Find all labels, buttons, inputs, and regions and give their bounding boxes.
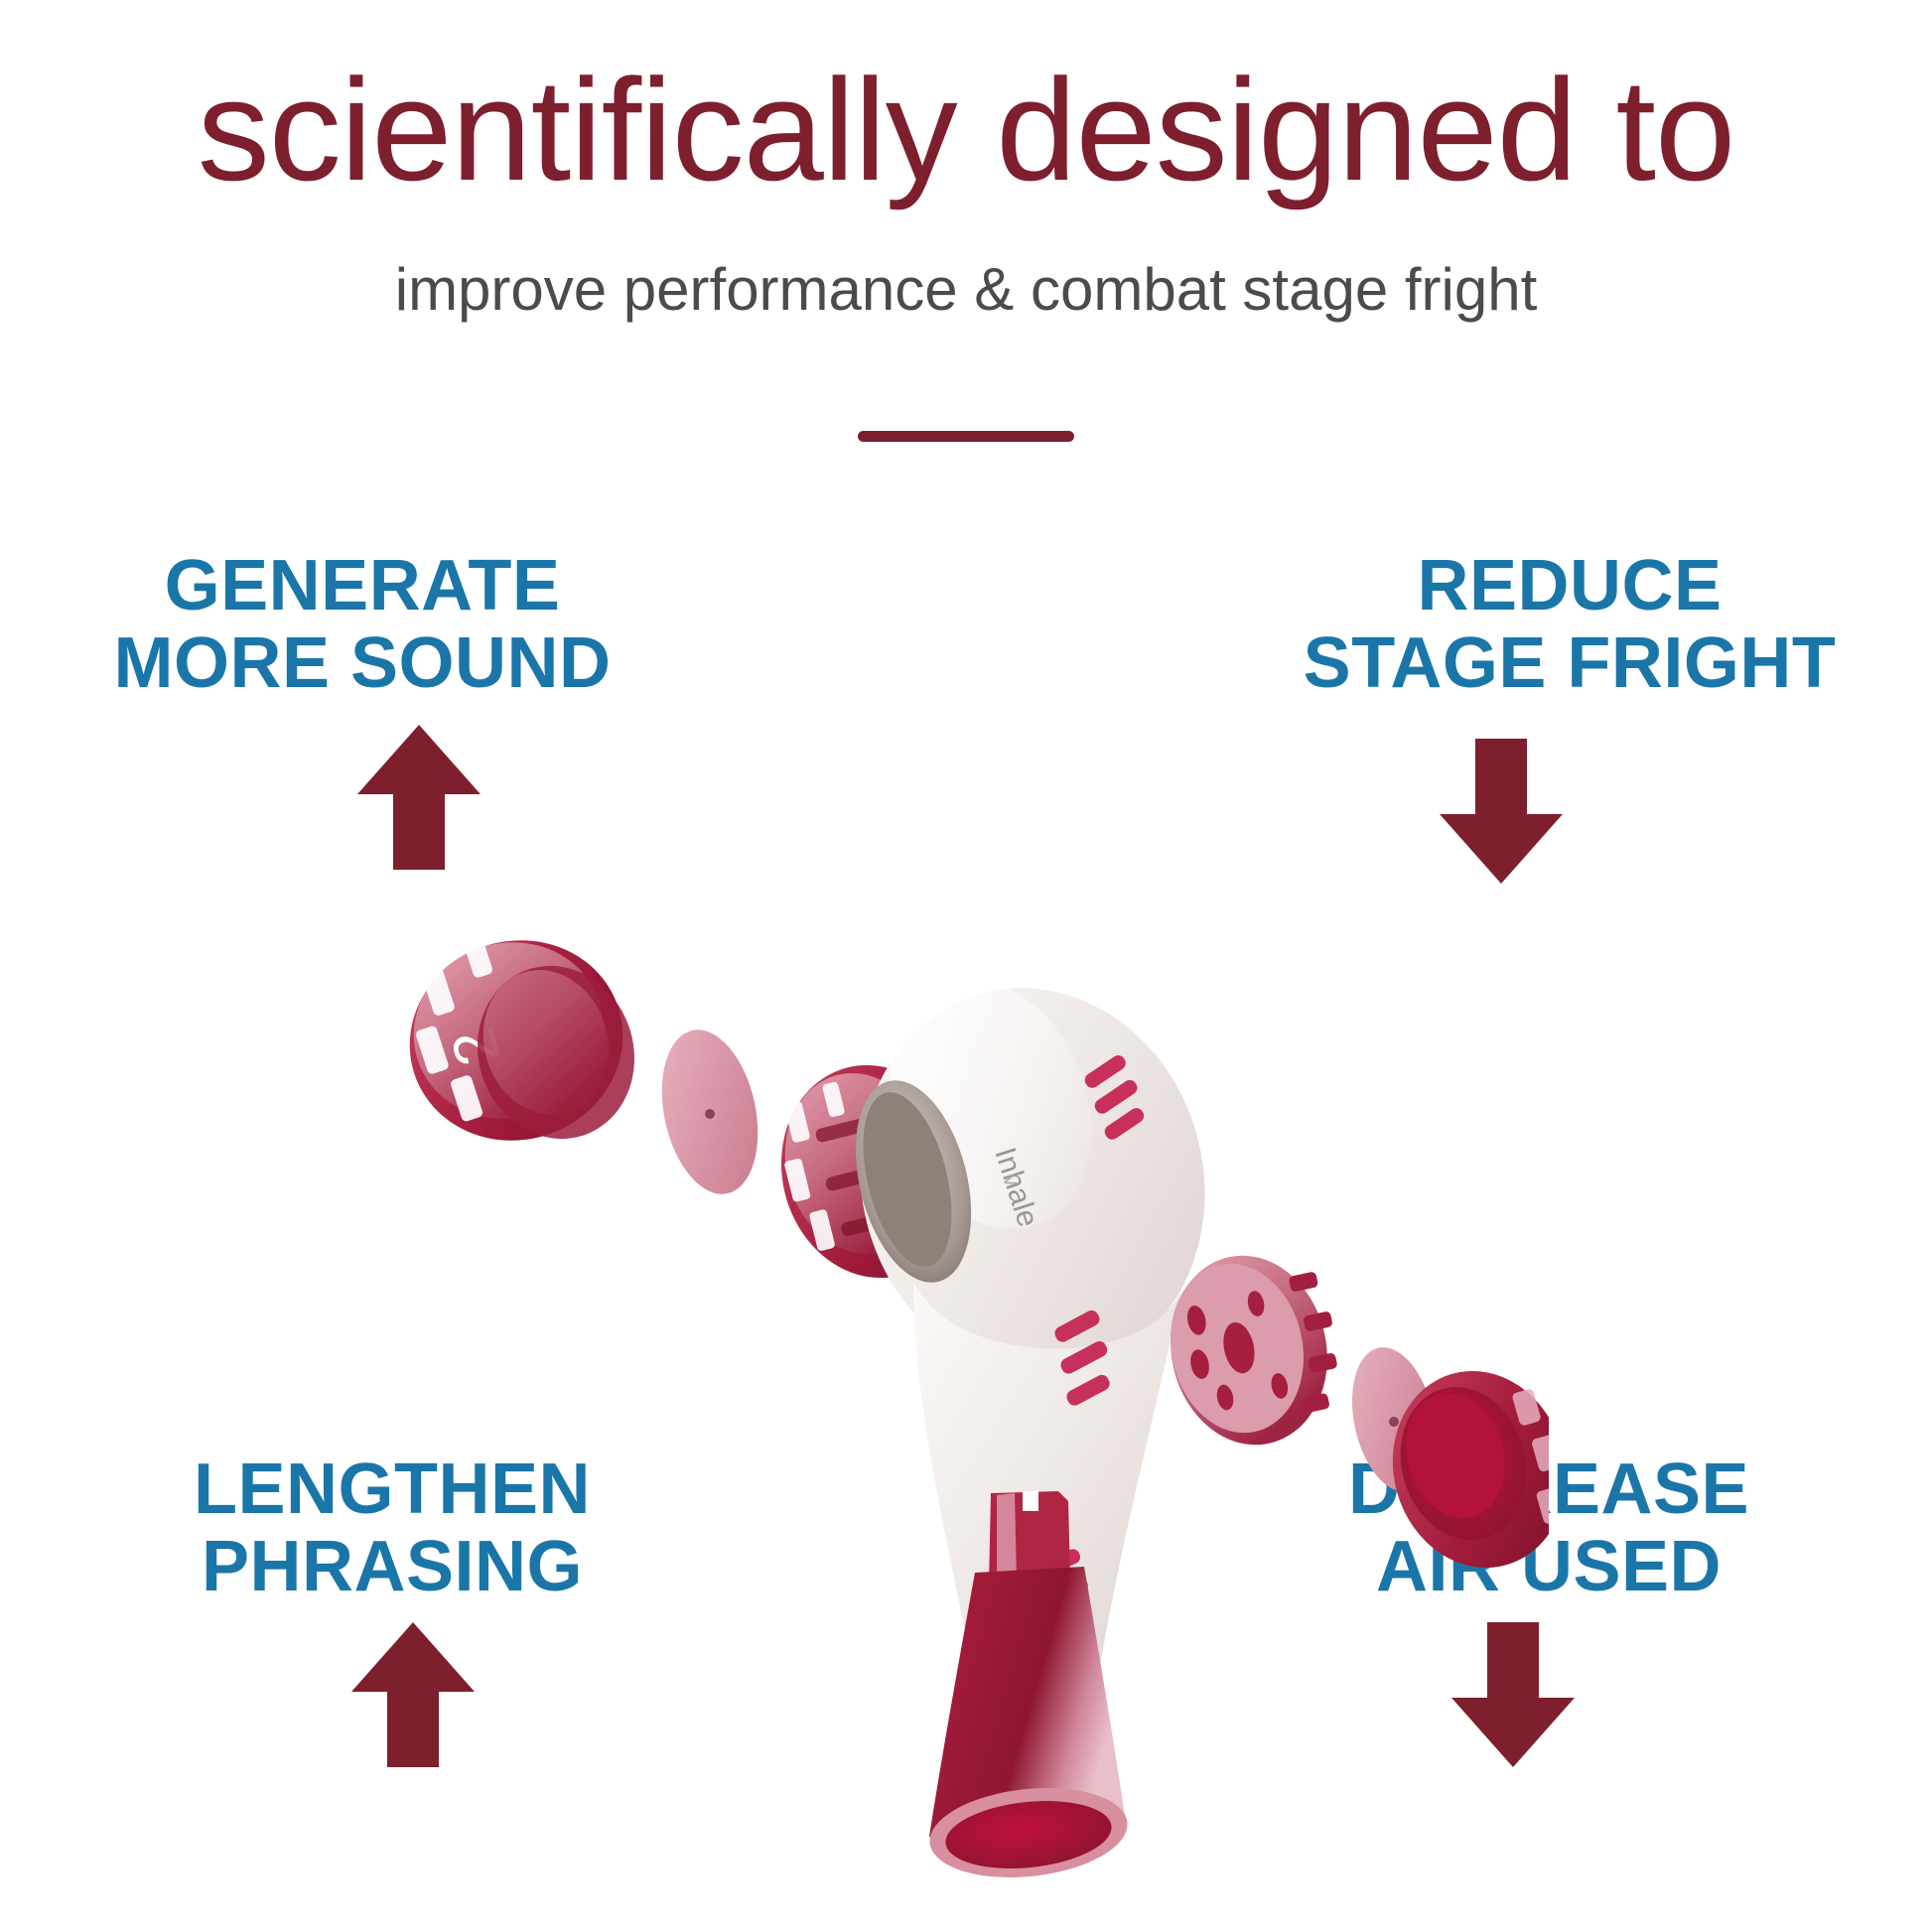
page-subtitle: improve performance & combat stage frigh… <box>0 203 1932 320</box>
page-title: scientifically designed to <box>0 0 1932 203</box>
product-part-diaphragm-disc-left <box>648 1021 772 1202</box>
header: scientifically designed to improve perfo… <box>0 0 1932 320</box>
benefit-label-generate-more-sound: GENERATE MORE SOUND <box>0 548 725 703</box>
benefit-label-reduce-stage-fright: REDUCE STAGE FRIGHT <box>1207 548 1932 703</box>
product-exploded-view-image: 2 <box>397 854 1549 1926</box>
infographic-page: scientifically designed to improve perfo… <box>0 0 1932 1932</box>
product-part-resistance-dial: 2 <box>397 913 656 1169</box>
title-divider <box>858 431 1074 442</box>
